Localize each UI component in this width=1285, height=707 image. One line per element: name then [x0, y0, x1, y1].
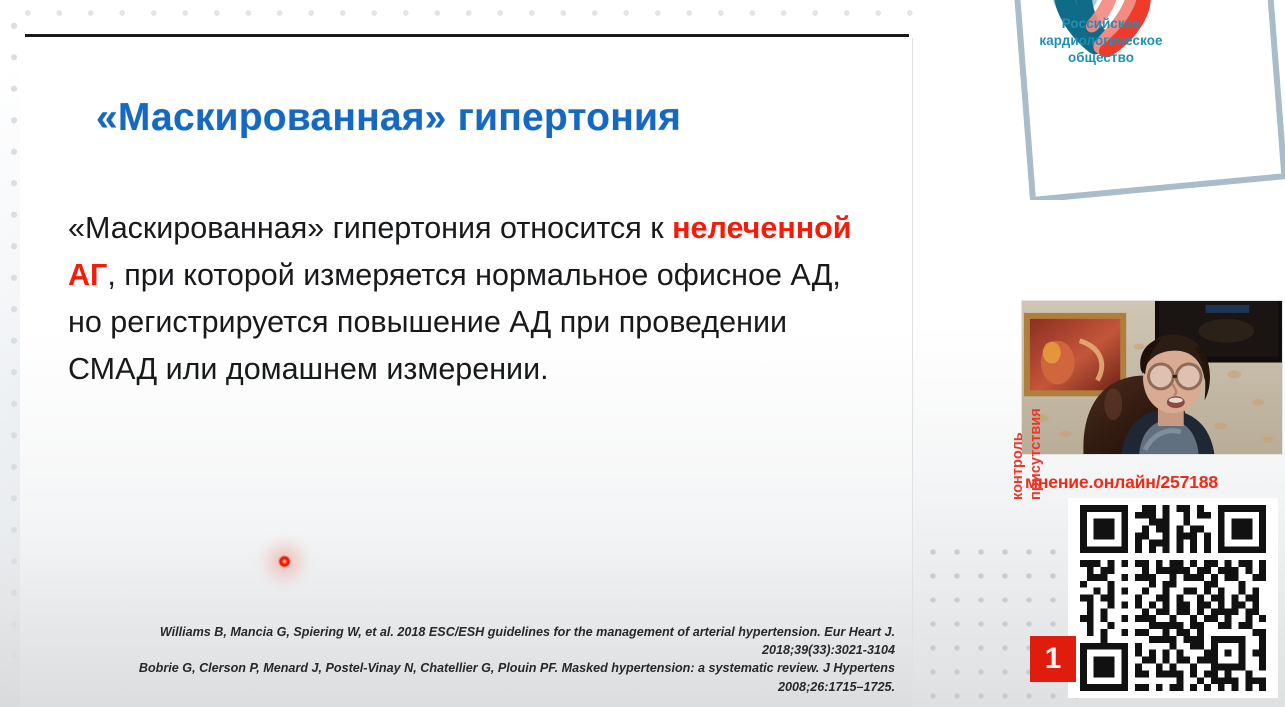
logo-line-3: общество — [1006, 49, 1196, 66]
attendance-url: мнение.онлайн/257188 — [1025, 472, 1275, 493]
speaker-video-frame — [1022, 301, 1282, 455]
title-rule — [25, 34, 909, 37]
logo-text: Российское кардиологическое общество — [1006, 15, 1196, 66]
body-part-2: , при которой измеряется нормальное офис… — [68, 258, 841, 386]
citation-line: 2008;26:1715–1725. — [120, 678, 895, 696]
logo-line-1: Российское — [1006, 15, 1196, 32]
laser-pointer-dot — [278, 555, 291, 568]
citation-line: Williams B, Mancia G, Spiering W, et al.… — [120, 623, 895, 641]
slide-body-text: «Маскированная» гипертония относится к н… — [68, 205, 858, 393]
logo-line-2: кардиологическое — [1006, 32, 1196, 49]
slide-title: «Маскированная» гипертония — [96, 96, 856, 141]
attendance-label: контроль присутствия — [1009, 360, 1045, 500]
qr-code[interactable] — [1068, 498, 1278, 698]
side-panel: Российское кардиологическое общество — [913, 0, 1285, 707]
slide-area: «Маскированная» гипертония «Маскированна… — [0, 0, 913, 707]
decorative-dot-column — [6, 0, 22, 707]
attendance-label-line-1: контроль — [1009, 360, 1027, 500]
organization-logo: Российское кардиологическое общество — [913, 0, 1285, 200]
speaker-video-tile[interactable] — [1021, 300, 1283, 455]
citation-block: Williams B, Mancia G, Spiering W, et al.… — [120, 623, 895, 696]
attendance-label-line-2: присутствия — [1027, 360, 1045, 500]
body-part-1: «Маскированная» гипертония относится к — [68, 211, 672, 245]
decorative-dot-row — [0, 6, 913, 20]
citation-line: 2018;39(33):3021-3104 — [120, 641, 895, 659]
presentation-screen: «Маскированная» гипертония «Маскированна… — [0, 0, 1285, 707]
citation-line: Bobrie G, Clerson P, Menard J, Postel-Vi… — [120, 659, 895, 677]
attendance-badge: 1 — [1030, 636, 1076, 682]
qr-code-svg — [1068, 498, 1278, 698]
